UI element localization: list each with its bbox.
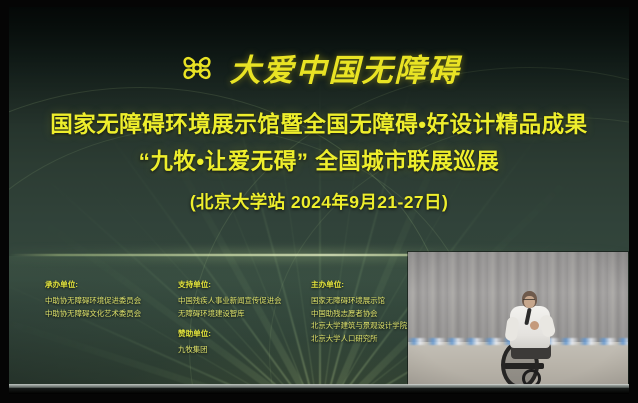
title-block: 国家无障碍环境展示馆暨全国无障碍•好设计精品成果 “九牧•让爱无碍” 全国城市联… — [9, 111, 629, 214]
slide-title-line-2: “九牧•让爱无碍” 全国城市联展巡展 — [9, 148, 629, 177]
credit-heading: 支持单位: — [178, 279, 311, 290]
logo-lockup: 大爱中国无障碍 — [9, 45, 629, 90]
credit-item: 中国残疾人事业新闻宣传促进会 — [178, 295, 311, 308]
projection-screen-shadow — [9, 388, 629, 394]
presentation-slide: 大爱中国无障碍 国家无障碍环境展示馆暨全国无障碍•好设计精品成果 “九牧•让爱无… — [9, 7, 629, 385]
projected-slide-screenshot: 大爱中国无障碍 国家无障碍环境展示馆暨全国无障碍•好设计精品成果 “九牧•让爱无… — [0, 0, 638, 403]
credit-item: 中助协无障碍文化艺术委员会 — [45, 308, 178, 321]
credit-item: 中助协无障碍环境促进委员会 — [45, 295, 178, 308]
credit-heading: 承办单位: — [45, 279, 178, 290]
credit-item: 无障碍环境建设智库 — [178, 308, 311, 321]
logo-wordmark: 大爱中国无障碍 — [230, 45, 461, 90]
speaker-video-inset[interactable] — [408, 252, 628, 385]
organiser-credits: 承办单位: 中助协无障碍环境促进委员会 中助协无障碍文化艺术委员会 支持单位: … — [45, 279, 465, 357]
slide-title-line-1: 国家无障碍环境展示馆暨全国无障碍•好设计精品成果 — [9, 111, 629, 140]
credit-column: 承办单位: 中助协无障碍环境促进委员会 中助协无障碍文化艺术委员会 — [45, 279, 178, 357]
credit-heading-sponsor: 赞助单位: — [178, 328, 311, 339]
knot-flower-emblem-icon — [178, 49, 216, 87]
seated-speaker — [505, 291, 561, 377]
slide-title-date: (北京大学站 2024年9月21-27日) — [9, 189, 629, 214]
credit-column: 支持单位: 中国残疾人事业新闻宣传促进会 无障碍环境建设智库 赞助单位: 九牧集… — [178, 279, 311, 357]
credit-item: 九牧集团 — [178, 344, 311, 357]
